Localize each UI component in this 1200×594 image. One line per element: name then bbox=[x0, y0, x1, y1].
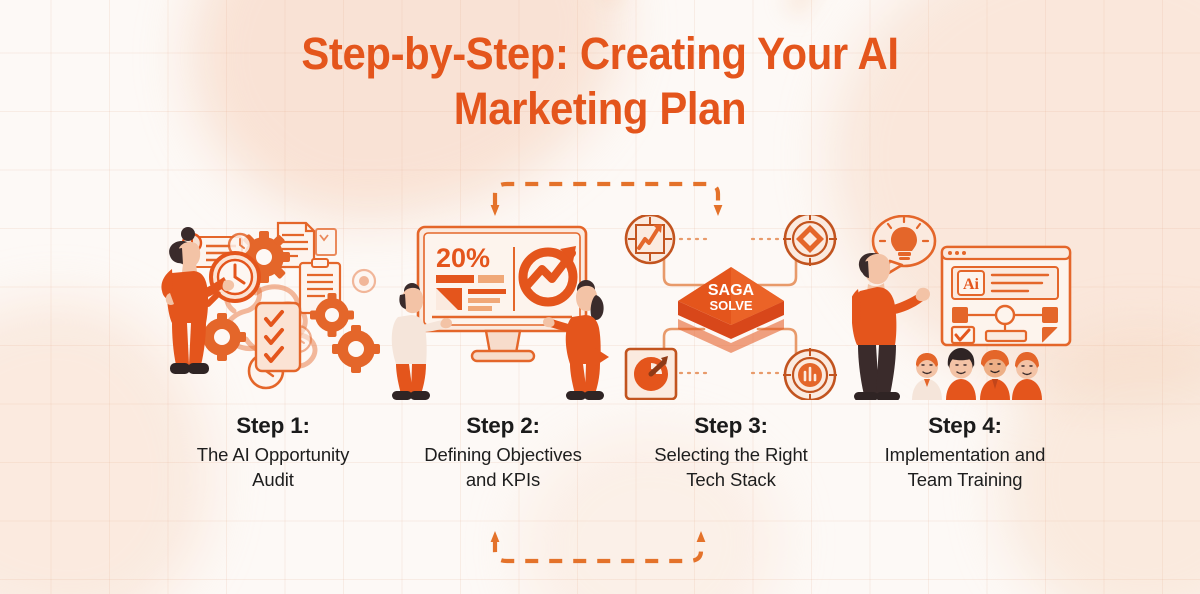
step-description-line-2: Team Training bbox=[908, 469, 1023, 490]
step-description-line-1: The AI Opportunity bbox=[197, 444, 349, 465]
step-description-line-1: Selecting the Right bbox=[654, 444, 807, 465]
step-description-line-2: Audit bbox=[252, 469, 294, 490]
step-description-line-2: Tech Stack bbox=[686, 469, 776, 490]
analytics-target-node-icon bbox=[783, 348, 837, 400]
target-arrow-node-icon bbox=[626, 349, 676, 399]
board-label: Ai bbox=[963, 276, 980, 293]
metric-label: 20% bbox=[436, 243, 490, 273]
page-title-line-2: Marketing Plan bbox=[42, 81, 1158, 136]
bottom-dashed-connector bbox=[489, 531, 707, 573]
play-triangle-icon bbox=[594, 347, 610, 367]
step-description: The AI Opportunity Audit bbox=[155, 442, 391, 492]
hub-label-line-2: SOLVE bbox=[709, 298, 752, 313]
step-caption-2: Step 2: Defining Objectives and KPIs bbox=[385, 413, 621, 492]
audit-person-magnifier-gears-checklist-illustration bbox=[160, 215, 386, 400]
checklist-icon bbox=[256, 303, 300, 371]
step-card-1[interactable]: Step 1: The AI Opportunity Audit bbox=[160, 215, 386, 492]
step-caption-4: Step 4: Implementation and Team Training bbox=[847, 413, 1083, 492]
step-caption-3: Step 3: Selecting the Right Tech Stack bbox=[613, 413, 849, 492]
gear-icon bbox=[332, 325, 380, 373]
team-group-icon bbox=[912, 348, 1042, 400]
hub-label-line-1: SAGA bbox=[708, 282, 755, 299]
document-icon bbox=[316, 229, 336, 255]
top-dashed-connector bbox=[489, 172, 724, 218]
training-presenter-team-board-illustration: Ai bbox=[852, 215, 1078, 400]
person-figure bbox=[852, 253, 930, 400]
browser-window-icon: Ai bbox=[942, 247, 1070, 345]
diamond-target-node-icon bbox=[783, 215, 837, 266]
step-card-4[interactable]: Ai bbox=[852, 215, 1078, 492]
step-description: Defining Objectives and KPIs bbox=[385, 442, 621, 492]
step-title: Step 2: bbox=[385, 413, 621, 439]
chart-node-icon bbox=[626, 215, 674, 263]
step-description: Selecting the Right Tech Stack bbox=[613, 442, 849, 492]
step-description-line-2: and KPIs bbox=[466, 469, 540, 490]
page-title: Step-by-Step: Creating Your AI Marketing… bbox=[0, 26, 1200, 136]
step-title: Step 3: bbox=[613, 413, 849, 439]
bar-chart-icon bbox=[436, 275, 504, 283]
step-title: Step 4: bbox=[847, 413, 1083, 439]
step-description-line-1: Implementation and bbox=[885, 444, 1046, 465]
step-card-3[interactable]: SAGA SOLVE bbox=[618, 215, 844, 492]
monitor-kpi-dashboard-two-people-illustration: 20% bbox=[390, 215, 616, 400]
step-description-line-1: Defining Objectives bbox=[424, 444, 581, 465]
step-title: Step 1: bbox=[155, 413, 391, 439]
tech-stack-hub-nodes-illustration: SAGA SOLVE bbox=[618, 215, 844, 400]
step-card-2[interactable]: 20% bbox=[390, 215, 616, 492]
page-title-line-1: Step-by-Step: Creating Your AI bbox=[42, 26, 1158, 81]
magnifier-icon bbox=[208, 253, 259, 304]
step-description: Implementation and Team Training bbox=[847, 442, 1083, 492]
step-caption-1: Step 1: The AI Opportunity Audit bbox=[155, 413, 391, 492]
badge-icon bbox=[353, 270, 375, 292]
